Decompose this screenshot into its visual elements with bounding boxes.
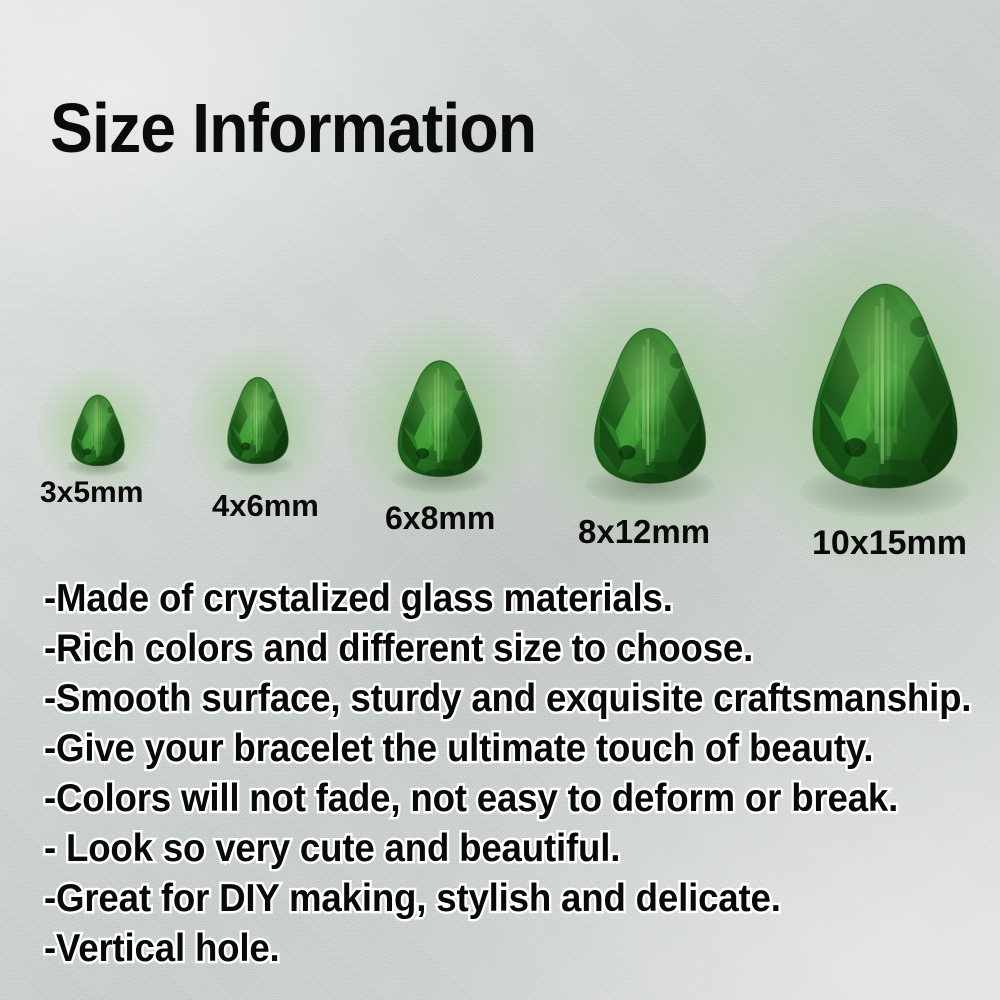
feature-line: -Made of crystalized glass materials.	[44, 574, 946, 624]
faceted-teardrop-bead	[811, 281, 959, 489]
feature-line: -Colors will not fade, not easy to defor…	[44, 774, 946, 824]
size-label-3x5mm: 3x5mm	[40, 476, 143, 510]
feature-line: -Great for DIY making, stylish and delic…	[44, 874, 946, 924]
faceted-teardrop-bead	[227, 376, 289, 464]
faceted-teardrop-bead	[71, 394, 125, 466]
bead-4x6mm	[227, 376, 289, 464]
bead-3x5mm	[71, 394, 125, 466]
feature-line: -Vertical hole.	[44, 924, 946, 974]
bead-6x8mm	[397, 359, 483, 477]
size-label-6x8mm: 6x8mm	[385, 500, 495, 537]
feature-bullet-list: -Made of crystalized glass materials.-Ri…	[44, 574, 1000, 974]
size-label-4x6mm: 4x6mm	[212, 488, 319, 524]
bead-8x12mm	[593, 326, 707, 484]
page-title: Size Information	[50, 92, 536, 164]
product-size-information-image: Size Information 3x5mm4x6mm6x8mm8x12mm10…	[0, 0, 1000, 1000]
feature-line: -Give your bracelet the ultimate touch o…	[44, 724, 946, 774]
size-label-10x15mm: 10x15mm	[812, 524, 967, 563]
bead-10x15mm	[811, 281, 959, 489]
faceted-teardrop-bead	[593, 326, 707, 484]
size-label-8x12mm: 8x12mm	[578, 513, 710, 551]
feature-line: - Look so very cute and beautiful.	[44, 824, 946, 874]
feature-line: -Smooth surface, sturdy and exquisite cr…	[44, 674, 946, 724]
feature-line: -Rich colors and different size to choos…	[44, 624, 946, 674]
faceted-teardrop-bead	[397, 359, 483, 477]
